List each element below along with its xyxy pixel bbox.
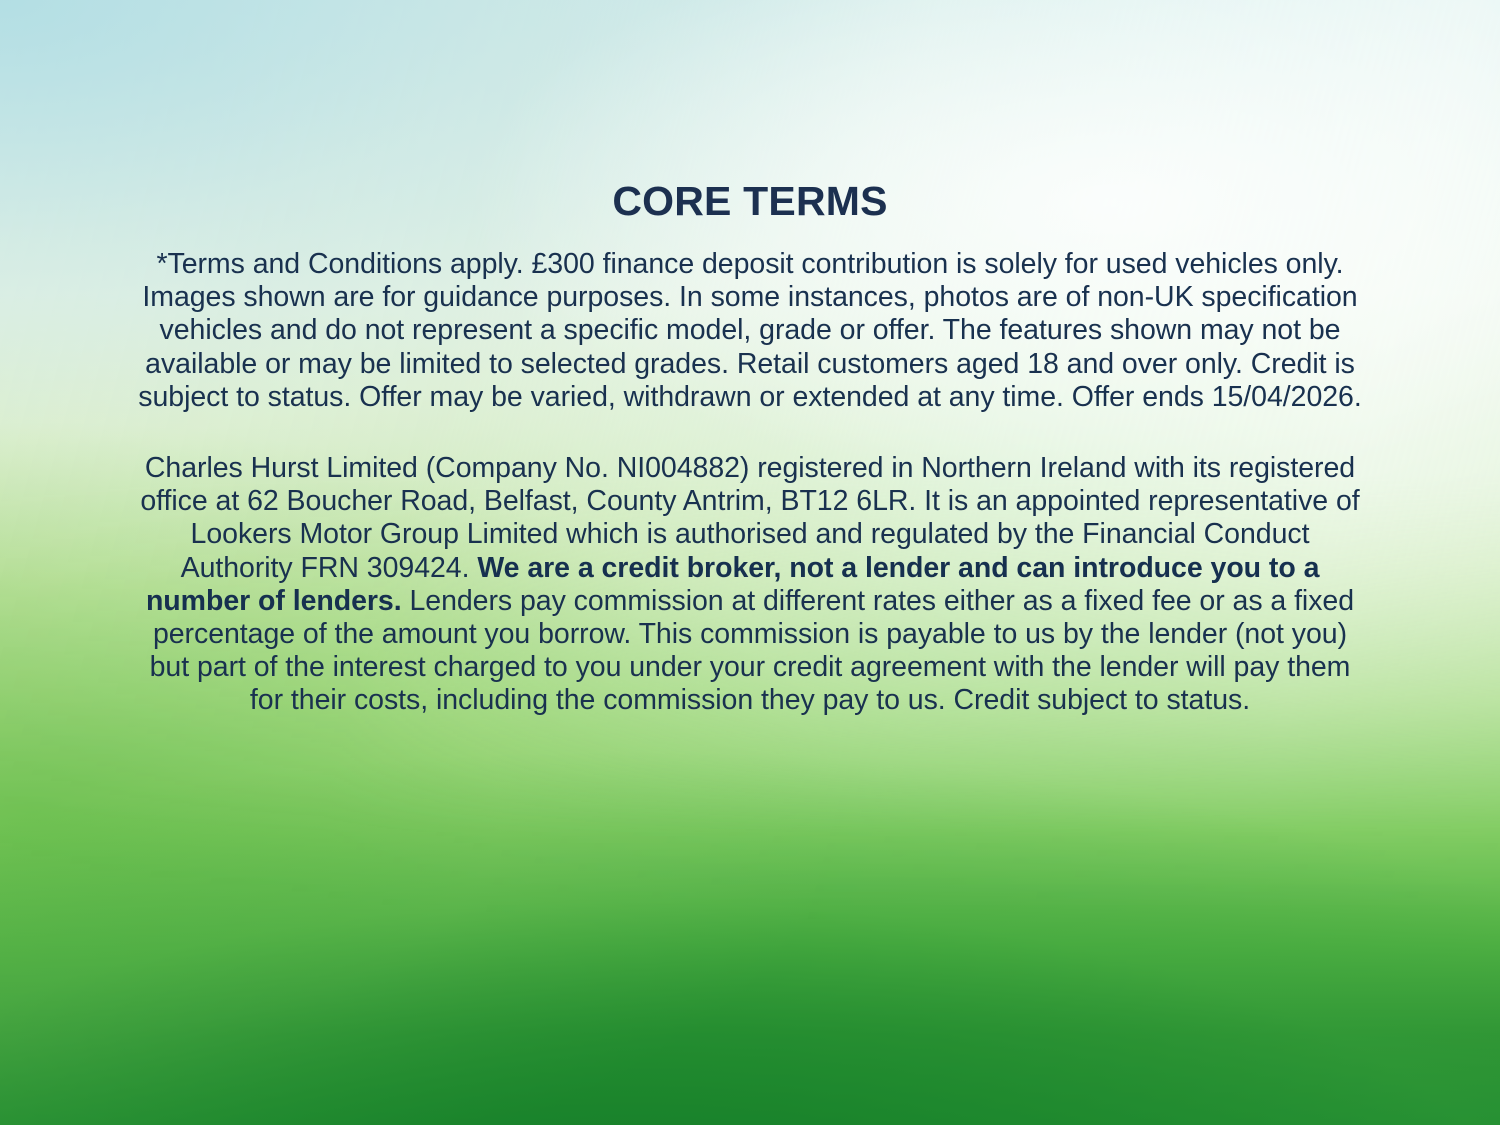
terms-text-block: *Terms and Conditions apply. £300 financ… [133,248,1367,717]
slide-content: CORE TERMS *Terms and Conditions apply. … [0,0,1500,1125]
terms-paragraph-company-disclosure: Charles Hurst Limited (Company No. NI004… [133,452,1367,718]
terms-paragraph-offer-conditions: *Terms and Conditions apply. £300 financ… [133,248,1367,414]
page-title: CORE TERMS [0,179,1500,224]
core-terms-slide: CORE TERMS *Terms and Conditions apply. … [0,0,1500,1125]
